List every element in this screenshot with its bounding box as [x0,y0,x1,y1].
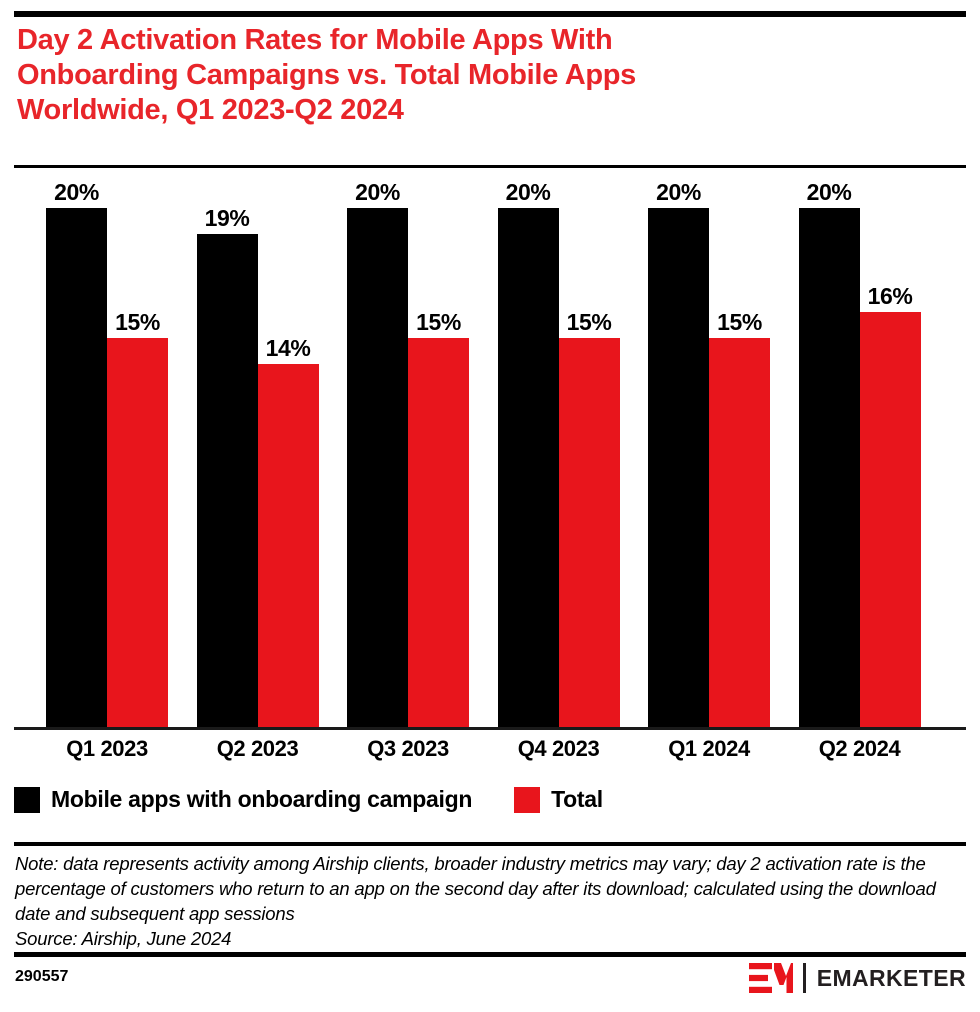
bar-total [860,312,921,727]
bar-value-label: 20% [22,180,132,204]
note-source: Source: Airship, June 2024 [15,928,231,949]
legend-swatch-black-icon [14,787,40,813]
bar-value-label: 19% [172,206,282,230]
bar-value-label: 15% [534,310,644,334]
bar-group: 20%15% [498,172,620,727]
note-block: Note: data represents activity among Air… [15,851,965,951]
bar-onboarding [347,208,408,727]
bar-chart-plot: 20%15%19%14%20%15%20%15%20%15%20%16% [0,168,980,730]
note-text: Note: data represents activity among Air… [15,853,936,924]
page-title: Day 2 Activation Rates for Mobile Apps W… [17,23,917,128]
bar-onboarding [648,208,709,727]
bar-group: 20%16% [799,172,921,727]
bar-value-label: 16% [835,284,945,308]
bar-total [258,364,319,727]
bar-group: 20%15% [648,172,770,727]
bar-onboarding [498,208,559,727]
bar-value-label: 20% [473,180,583,204]
chart-legend: Mobile apps with onboarding campaign Tot… [14,786,603,813]
bar-group: 20%15% [46,172,168,727]
logo-wordmark: EMARKETER [817,965,966,992]
bar-total [709,338,770,727]
bar-value-label: 15% [384,310,494,334]
em-monogram-icon [749,963,793,993]
bar-onboarding [46,208,107,727]
legend-swatch-red-icon [514,787,540,813]
bar-total [559,338,620,727]
note-rule [14,842,966,846]
legend-label-total: Total [551,786,603,813]
bar-value-label: 20% [774,180,884,204]
chart-id: 290557 [15,968,68,986]
bar-total [107,338,168,727]
bar-onboarding [197,234,258,727]
bar-value-label: 20% [624,180,734,204]
bar-value-label: 20% [323,180,433,204]
legend-item-onboarding: Mobile apps with onboarding campaign [14,786,472,813]
footer-rule [14,952,966,957]
bar-group: 20%15% [347,172,469,727]
chart-page: Day 2 Activation Rates for Mobile Apps W… [0,0,980,1012]
bar-value-label: 15% [83,310,193,334]
bar-value-label: 14% [233,336,343,360]
title-line-1: Day 2 Activation Rates for Mobile Apps W… [17,23,917,58]
bar-total [408,338,469,727]
top-rule [14,11,966,17]
legend-label-onboarding: Mobile apps with onboarding campaign [51,786,472,813]
x-tick-q2-2024: Q2 2024 [770,736,950,762]
legend-item-total: Total [514,786,603,813]
emarketer-logo: EMARKETER [749,961,966,995]
logo-divider [803,963,806,993]
bar-value-label: 15% [685,310,795,334]
bar-group: 19%14% [197,172,319,727]
title-line-2: Onboarding Campaigns vs. Total Mobile Ap… [17,58,917,93]
title-line-3: Worldwide, Q1 2023-Q2 2024 [17,93,917,128]
x-axis-baseline [14,727,966,730]
